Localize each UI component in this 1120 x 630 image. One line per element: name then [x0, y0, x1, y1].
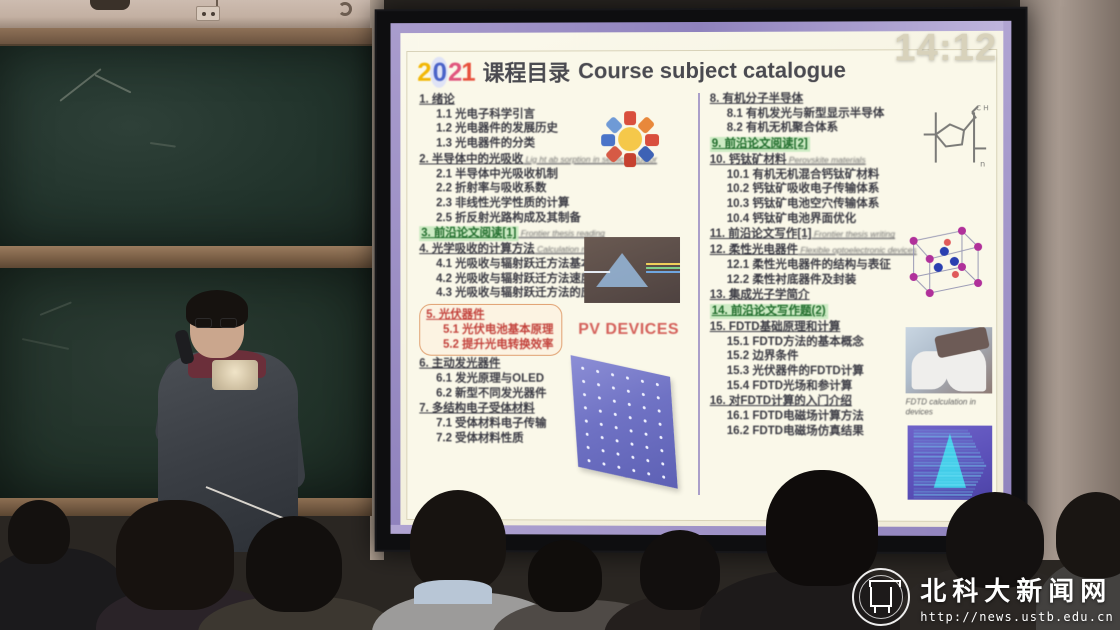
- slide-item-label: 2.5 折反射光路构成及其制备: [436, 212, 581, 224]
- solar-cell-dot: [660, 449, 663, 453]
- solar-cell-dot: [646, 459, 649, 463]
- ustb-seal-icon: [852, 568, 910, 626]
- projection-screen: 14:12 2 0 2 1 课程目录 Course subject catalo…: [375, 7, 1028, 555]
- fdtd-fringe: [914, 468, 985, 470]
- slide-item-label: 5. 光伏器件: [426, 309, 484, 321]
- slide-item-label: 10.3 钙钛矿电池空穴传输体系: [727, 198, 880, 210]
- solar-cell-dot: [659, 436, 662, 440]
- lecturer-jacket-logo: [212, 360, 258, 390]
- slide-item-label: 15.2 边界条件: [727, 350, 799, 362]
- slide-item-label: 2.2 折射率与吸收系数: [436, 183, 546, 195]
- fdtd-fringe: [914, 497, 970, 499]
- slide-title-en: Course subject catalogue: [578, 58, 846, 85]
- svg-text:C H: C H: [976, 104, 988, 112]
- slide-item-label: 12.2 柔性衬底器件及封装: [727, 274, 856, 286]
- solar-cell-dot: [642, 393, 645, 397]
- slide-item-label: 14. 前沿论文写作题(2): [710, 304, 828, 319]
- slide-item: 6. 主动发光器件: [419, 357, 696, 372]
- slide-item-label: 7. 多结构电子受体材料: [419, 403, 534, 415]
- slide-content: 2 0 2 1 课程目录 Course subject catalogue 1.…: [406, 49, 997, 522]
- watermark-text: 北科大新闻网 http://news.ustb.edu.cn: [920, 571, 1114, 624]
- audience-head: [410, 490, 506, 592]
- slide-item-label: 12. 柔性光电器件: [710, 244, 798, 256]
- solar-cell-dot: [612, 386, 615, 390]
- solar-cell-dot: [587, 459, 590, 463]
- slide-item: 2.1 半导体中光吸收机制: [419, 167, 696, 182]
- solar-cell-dot: [645, 446, 648, 450]
- audience-head: [1056, 492, 1120, 578]
- solar-cell-dot: [583, 393, 586, 397]
- solar-cell-dot: [629, 429, 632, 433]
- solar-cell-dot: [643, 406, 646, 410]
- slide-item: 14. 前沿论文写作题(2): [710, 304, 990, 319]
- slide-item-label: 10. 钙钛矿材料: [710, 154, 787, 166]
- solar-cell-dot: [597, 383, 600, 387]
- slide-item: 5. 光伏器件: [426, 308, 553, 323]
- fdtd-fringe: [914, 455, 982, 457]
- sun-logo-icon: [602, 111, 658, 167]
- solar-cell-dot: [644, 432, 647, 436]
- solar-cell-dot: [616, 452, 619, 456]
- slide-item: 2.5 折反射光路构成及其制备: [419, 211, 696, 226]
- slide-item-label: 11. 前沿论文写作[1]: [710, 228, 812, 240]
- fdtd-fringe: [914, 429, 969, 431]
- slide-item: 10.3 钙钛矿电池空穴传输体系: [710, 197, 990, 212]
- solar-cell-dot: [617, 465, 620, 469]
- clock-display: 14:12: [894, 27, 997, 71]
- solar-cell-dot: [615, 439, 618, 443]
- solar-cell-dot: [587, 446, 590, 450]
- fdtd-fringe: [914, 471, 983, 473]
- solar-cell-dot: [631, 455, 634, 459]
- slide-item-label: 2. 半导体中的光吸收: [419, 153, 523, 165]
- fdtd-fringe: [914, 490, 974, 492]
- slide-item-label: 8.2 有机无机聚合体系: [727, 122, 838, 134]
- solar-cell-dot: [611, 373, 614, 377]
- solar-cell-dot: [582, 380, 585, 384]
- fdtd-caption: FDTD calculation in devices: [906, 397, 993, 418]
- slide-border-left: [391, 23, 401, 534]
- slide-item-label: 5.2 提升光电转换效率: [443, 338, 553, 350]
- wall-right: [1020, 0, 1120, 560]
- fdtd-fringe: [914, 474, 982, 476]
- slide-item-label: 1.3 光电器件的分类: [436, 138, 535, 150]
- pv-devices-label: PV DEVICES: [578, 321, 679, 339]
- slide-item-label: 2.3 非线性光学性质的计算: [436, 197, 569, 209]
- solar-cell-dot: [626, 376, 629, 380]
- solar-cell-dot: [614, 413, 617, 417]
- slide-item-label: 6.1 发光原理与OLED: [436, 373, 544, 385]
- slide-item-label: 16.1 FDTD电磁场计算方法: [727, 410, 864, 422]
- solar-cell-dot: [599, 409, 602, 413]
- slide-item-label: 7.2 受体材料性质: [436, 432, 524, 444]
- slide-item-label: 16. 对FDTD计算的入门介绍: [710, 395, 852, 407]
- solar-cell-dot: [598, 396, 601, 400]
- solar-cell-dot: [644, 419, 647, 423]
- slide-item-label: 12.1 柔性光电器件的结构与表征: [727, 259, 891, 271]
- slide-item-label: 15.1 FDTD方法的基本概念: [727, 336, 864, 348]
- slide-columns: 1. 绪论1.1 光电子科学引言1.2 光电器件的发展历史1.3 光电器件的分类…: [407, 88, 996, 510]
- slide-title-cn: 课程目录: [483, 55, 571, 87]
- slide-item-label: 15. FDTD基础原理和计算: [710, 321, 841, 333]
- watermark: 北科大新闻网 http://news.ustb.edu.cn: [852, 568, 1114, 626]
- year-digit-1: 0: [431, 56, 448, 87]
- highlighted-section-box: 5. 光伏器件5.1 光伏电池基本原理5.2 提升光电转换效率: [419, 304, 562, 356]
- fdtd-fringe: [914, 481, 978, 483]
- wall-upper: [0, 0, 380, 28]
- slide-item-label: 4.3 光吸收与辐射跃迁方法的应用: [436, 287, 604, 299]
- slide-item-label: 6.2 新型不同发光器件: [436, 387, 546, 399]
- slide-item: 2.2 折射率与吸收系数: [419, 181, 696, 196]
- fdtd-fringe: [914, 439, 974, 441]
- slide-item-label: 6. 主动发光器件: [419, 358, 500, 370]
- flexible-device-photo: [906, 327, 993, 393]
- fdtd-fringe: [914, 465, 987, 467]
- solar-cell-dot: [661, 462, 664, 466]
- audience-head: [246, 516, 342, 612]
- slide-item-label: 10.4 钙钛矿电池界面优化: [727, 213, 856, 225]
- year-digit-2: 2: [448, 56, 461, 87]
- lecture-hall-photo: 14:12 2 0 2 1 课程目录 Course subject catalo…: [0, 0, 1120, 630]
- fdtd-fringe: [914, 433, 970, 435]
- audience-head: [528, 540, 602, 612]
- year-digit-3: 1: [461, 56, 474, 87]
- year-digit-0: 2: [417, 56, 430, 87]
- slide-item-label: 4. 光学吸收的计算方法: [419, 243, 534, 255]
- slide-item-label: 8.1 有机发光与新型显示半导体: [727, 107, 885, 119]
- slide-item: 1. 绪论: [419, 92, 696, 107]
- power-outlet-icon: [196, 6, 220, 21]
- solar-cell-dot: [658, 422, 661, 426]
- projected-image: 14:12 2 0 2 1 课程目录 Course subject catalo…: [391, 21, 1012, 536]
- audience-head: [8, 500, 70, 564]
- perovskite-lattice-diagram: [900, 217, 993, 301]
- solar-cell-dot: [656, 383, 659, 387]
- slide-item-label: 2.1 半导体中光吸收机制: [436, 168, 558, 180]
- slide-item-english: Perovskite materials: [787, 155, 866, 165]
- prism-photo: [584, 237, 680, 303]
- fdtd-fringe: [914, 452, 980, 454]
- glasses-icon: [195, 318, 239, 328]
- fdtd-fringe: [914, 462, 985, 464]
- svg-text:n: n: [980, 159, 985, 168]
- solar-cell-dot: [632, 469, 635, 473]
- watermark-site-name: 北科大新闻网: [920, 571, 1114, 608]
- slide-item-label: 1.2 光电器件的发展历史: [436, 123, 558, 135]
- wall-bracket: [90, 0, 130, 10]
- polymer-structure-diagram: C H n: [916, 96, 991, 170]
- audience-collar: [414, 580, 492, 604]
- slide-item-label: 1. 绪论: [419, 94, 455, 106]
- audience-head: [640, 530, 720, 610]
- slide-item-label: 7.1 受体材料电子传输: [436, 418, 546, 430]
- slide-item-label: 3. 前沿论文阅读[1]: [419, 227, 518, 242]
- solar-cell-dot: [601, 436, 604, 440]
- slide-item-english: Frontier thesis writing: [812, 229, 896, 239]
- chalkboard-frame-top: [0, 28, 372, 46]
- fdtd-fringe: [914, 484, 977, 486]
- solar-cell-dot: [596, 370, 599, 374]
- audience-head: [116, 500, 234, 610]
- slide-item: 2.3 非线性光学性质的计算: [419, 196, 696, 211]
- fdtd-fringe: [914, 446, 977, 448]
- slide-item-label: 13. 集成光子学简介: [710, 289, 810, 301]
- slide-item-label: 15.3 光伏器件的FDTD计算: [727, 365, 864, 377]
- solar-cell-dot: [613, 399, 616, 403]
- solar-cell-dot: [585, 419, 588, 423]
- fdtd-simulation-image: [908, 425, 993, 500]
- slide-item: 10.2 钙钛矿吸收电子传输体系: [710, 182, 990, 197]
- wall-hook-icon: [338, 2, 352, 16]
- solar-cell-dot: [630, 442, 633, 446]
- year-2021-logo-icon: 2 0 2 1: [417, 56, 474, 87]
- chalk-tray: [0, 246, 372, 268]
- solar-cell-dot: [601, 449, 604, 453]
- solar-cell-dot: [600, 422, 603, 426]
- fdtd-fringe: [914, 458, 983, 460]
- slide-item: 1.1 光电子科学引言: [419, 107, 696, 122]
- slide-item-label: 15.4 FDTD光场和参计算: [727, 380, 853, 392]
- solar-cell-dot: [629, 416, 632, 420]
- slide-item-label: 9. 前沿论文阅读[2]: [710, 137, 810, 152]
- slide-item-label: 8. 有机分子半导体: [710, 93, 803, 105]
- slide: 14:12 2 0 2 1 课程目录 Course subject catalo…: [391, 21, 1012, 536]
- solar-cell-dot: [581, 366, 584, 370]
- solar-cell-dot: [615, 426, 618, 430]
- solar-cell-dot: [602, 462, 605, 466]
- solar-cell-dot: [584, 406, 587, 410]
- slide-border-right: [1003, 21, 1011, 536]
- solar-cell-dot: [641, 379, 644, 383]
- fdtd-fringe: [914, 449, 978, 451]
- solar-panel-photo: [571, 355, 678, 489]
- solar-cell-dot: [628, 403, 631, 407]
- solar-cell-dot: [657, 396, 660, 400]
- solar-cell-dot: [658, 409, 661, 413]
- fdtd-fringe: [914, 442, 975, 444]
- fdtd-fringe: [914, 478, 980, 480]
- fdtd-fringe: [914, 487, 975, 489]
- chalkboard-upper: [0, 46, 372, 246]
- slide-item-label: 1.1 光电子科学引言: [436, 108, 535, 120]
- fdtd-fringe: [914, 494, 972, 496]
- slide-item: 5.1 光伏电池基本原理: [426, 323, 553, 338]
- fdtd-fringe: [914, 436, 972, 438]
- solar-cell-dot: [647, 472, 650, 476]
- solar-cell-dot: [586, 432, 589, 436]
- slide-item-label: 10.1 有机无机混合钙钛矿材料: [727, 168, 880, 180]
- slide-item: 5.2 提升光电转换效率: [426, 337, 553, 352]
- slide-item-label: 5.1 光伏电池基本原理: [443, 324, 553, 336]
- solar-cell-dot: [662, 475, 665, 479]
- solar-cell-dot: [627, 389, 630, 393]
- slide-item-label: 10.2 钙钛矿吸收电子传输体系: [727, 183, 880, 195]
- watermark-url[interactable]: http://news.ustb.edu.cn: [920, 610, 1114, 624]
- slide-item-label: 16.2 FDTD电磁场仿真结果: [727, 425, 864, 437]
